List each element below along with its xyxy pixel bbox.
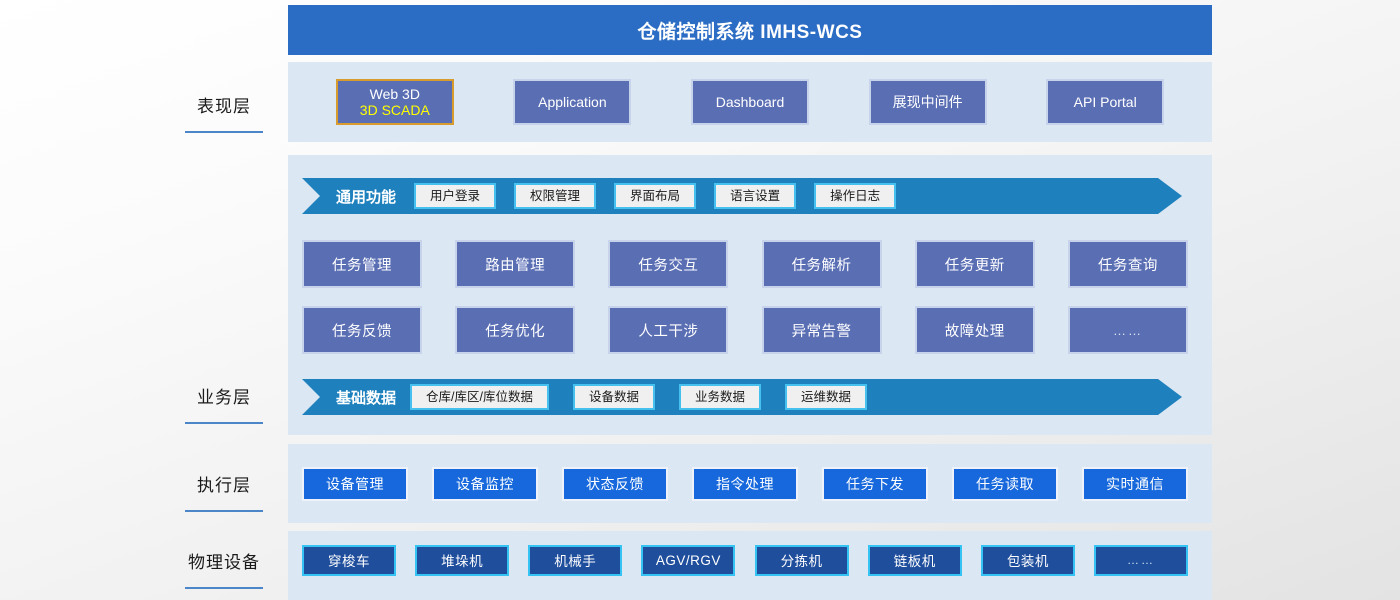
presentation-box-api-portal[interactable]: API Portal: [1046, 79, 1164, 125]
physical-box-sorter-label: 分拣机: [781, 550, 823, 570]
execution-box-command-processing[interactable]: 指令处理: [692, 467, 798, 501]
business-box-task-management[interactable]: 任务管理: [302, 240, 422, 288]
physical-box-robot-arm-label: 机械手: [554, 550, 596, 570]
execution-layer-panel: 设备管理 设备监控 状态反馈 指令处理 任务下发 任务读取 实时通信: [288, 444, 1212, 523]
execution-box-task-dispatch-label: 任务下发: [846, 474, 904, 494]
physical-box-packing-machine[interactable]: 包装机: [981, 545, 1075, 576]
layer-label-execution: 执行层: [160, 471, 288, 512]
physical-box-shuttle-car-label: 穿梭车: [328, 550, 370, 570]
common-functions-chip-group: 用户登录 权限管理 界面布局 语言设置 操作日志: [414, 183, 896, 210]
common-functions-band-title: 通用功能: [336, 186, 396, 207]
execution-box-status-feedback-label: 状态反馈: [586, 474, 644, 494]
presentation-box-display-middleware-label: 展现中间件: [893, 94, 963, 110]
execution-box-task-read-label: 任务读取: [976, 474, 1034, 494]
physical-box-sorter[interactable]: 分拣机: [755, 545, 849, 576]
common-chip-operation-log[interactable]: 操作日志: [814, 183, 896, 210]
presentation-box-row: Web 3D 3D SCADA Application Dashboard 展现…: [288, 62, 1212, 142]
business-box-more-label: ……: [1113, 323, 1143, 338]
basic-chip-equipment-data[interactable]: 设备数据: [573, 384, 655, 411]
execution-box-status-feedback[interactable]: 状态反馈: [562, 467, 668, 501]
layer-label-presentation: 表现层: [160, 92, 288, 133]
business-box-task-update[interactable]: 任务更新: [915, 240, 1035, 288]
business-box-task-optimization[interactable]: 任务优化: [455, 306, 575, 354]
layer-label-execution-text: 执行层: [160, 471, 288, 496]
business-box-task-optimization-label: 任务优化: [485, 320, 545, 341]
physical-box-slat-conveyor-label: 链板机: [894, 550, 936, 570]
execution-box-command-processing-label: 指令处理: [716, 474, 774, 494]
presentation-box-web3d[interactable]: Web 3D 3D SCADA: [336, 79, 454, 125]
layer-label-execution-rule: [185, 510, 263, 512]
business-box-task-interaction[interactable]: 任务交互: [608, 240, 728, 288]
presentation-layer-panel: Web 3D 3D SCADA Application Dashboard 展现…: [288, 62, 1212, 142]
business-box-manual-intervention[interactable]: 人工干涉: [608, 306, 728, 354]
basic-chip-warehouse-area-location-data[interactable]: 仓库/库区/库位数据: [410, 384, 549, 411]
business-box-route-management[interactable]: 路由管理: [455, 240, 575, 288]
layer-label-physical-text: 物理设备: [160, 548, 288, 573]
physical-box-stacker-crane[interactable]: 堆垛机: [415, 545, 509, 576]
layer-label-presentation-rule: [185, 131, 263, 133]
layer-label-business: 业务层: [160, 383, 288, 424]
business-box-task-parsing[interactable]: 任务解析: [762, 240, 882, 288]
common-chip-permission-management[interactable]: 权限管理: [514, 183, 596, 210]
basic-data-band-title: 基础数据: [336, 387, 396, 408]
presentation-box-display-middleware[interactable]: 展现中间件: [869, 79, 987, 125]
common-functions-band: 通用功能 用户登录 权限管理 界面布局 语言设置 操作日志: [302, 178, 1182, 214]
execution-box-realtime-communication[interactable]: 实时通信: [1082, 467, 1188, 501]
execution-box-equipment-monitoring[interactable]: 设备监控: [432, 467, 538, 501]
basic-data-chip-group: 仓库/库区/库位数据 设备数据 业务数据 运维数据: [410, 384, 867, 411]
execution-box-equipment-management[interactable]: 设备管理: [302, 467, 408, 501]
business-box-fault-handling[interactable]: 故障处理: [915, 306, 1035, 354]
basic-chip-business-data[interactable]: 业务数据: [679, 384, 761, 411]
physical-box-shuttle-car[interactable]: 穿梭车: [302, 545, 396, 576]
presentation-box-application-label: Application: [538, 94, 607, 110]
physical-box-more[interactable]: ……: [1094, 545, 1188, 576]
business-box-fault-handling-label: 故障处理: [945, 320, 1005, 341]
physical-box-agv-rgv[interactable]: AGV/RGV: [641, 545, 735, 576]
physical-box-more-label: ……: [1127, 553, 1155, 567]
business-box-manual-intervention-label: 人工干涉: [638, 320, 698, 341]
business-box-task-parsing-label: 任务解析: [792, 254, 852, 275]
presentation-box-api-portal-label: API Portal: [1074, 94, 1137, 110]
layer-label-business-rule: [185, 422, 263, 424]
common-chip-ui-layout[interactable]: 界面布局: [614, 183, 696, 210]
business-box-task-interaction-label: 任务交互: [638, 254, 698, 275]
business-layer-panel: 通用功能 用户登录 权限管理 界面布局 语言设置 操作日志 任务管理 路由管理 …: [288, 155, 1212, 435]
execution-box-row: 设备管理 设备监控 状态反馈 指令处理 任务下发 任务读取 实时通信: [302, 444, 1188, 523]
execution-box-equipment-monitoring-label: 设备监控: [456, 474, 514, 494]
business-box-task-management-label: 任务管理: [332, 254, 392, 275]
layer-label-presentation-text: 表现层: [160, 92, 288, 117]
business-box-exception-alarm-label: 异常告警: [792, 320, 852, 341]
physical-box-packing-machine-label: 包装机: [1007, 550, 1049, 570]
layer-label-physical-rule: [185, 587, 263, 589]
physical-devices-layer-panel: 穿梭车 堆垛机 机械手 AGV/RGV 分拣机 链板机 包装机 ……: [288, 531, 1212, 600]
business-box-exception-alarm[interactable]: 异常告警: [762, 306, 882, 354]
execution-box-task-read[interactable]: 任务读取: [952, 467, 1058, 501]
layer-label-column: 表现层 业务层 执行层 物理设备: [160, 0, 288, 600]
physical-box-robot-arm[interactable]: 机械手: [528, 545, 622, 576]
business-box-task-query[interactable]: 任务查询: [1068, 240, 1188, 288]
execution-box-realtime-communication-label: 实时通信: [1106, 474, 1164, 494]
system-title-bar: 仓储控制系统 IMHS-WCS: [288, 5, 1212, 55]
business-module-row-1: 任务管理 路由管理 任务交互 任务解析 任务更新 任务查询: [302, 240, 1188, 288]
layer-label-physical: 物理设备: [160, 548, 288, 589]
page-title: 仓储控制系统 IMHS-WCS: [638, 17, 863, 44]
presentation-box-dashboard-label: Dashboard: [716, 94, 785, 110]
presentation-box-web3d-line1: Web 3D: [370, 86, 420, 102]
business-box-task-feedback[interactable]: 任务反馈: [302, 306, 422, 354]
physical-box-agv-rgv-label: AGV/RGV: [656, 553, 721, 568]
business-box-task-query-label: 任务查询: [1098, 254, 1158, 275]
basic-data-band: 基础数据 仓库/库区/库位数据 设备数据 业务数据 运维数据: [302, 379, 1182, 415]
presentation-box-dashboard[interactable]: Dashboard: [691, 79, 809, 125]
common-chip-language-settings[interactable]: 语言设置: [714, 183, 796, 210]
common-chip-user-login[interactable]: 用户登录: [414, 183, 496, 210]
physical-box-stacker-crane-label: 堆垛机: [441, 550, 483, 570]
presentation-box-web3d-line2: 3D SCADA: [360, 102, 430, 118]
execution-box-equipment-management-label: 设备管理: [326, 474, 384, 494]
presentation-box-application[interactable]: Application: [513, 79, 631, 125]
business-box-task-update-label: 任务更新: [945, 254, 1005, 275]
business-box-route-management-label: 路由管理: [485, 254, 545, 275]
execution-box-task-dispatch[interactable]: 任务下发: [822, 467, 928, 501]
business-box-more[interactable]: ……: [1068, 306, 1188, 354]
basic-chip-ops-maintenance-data[interactable]: 运维数据: [785, 384, 867, 411]
layer-label-business-text: 业务层: [160, 383, 288, 408]
physical-box-slat-conveyor[interactable]: 链板机: [868, 545, 962, 576]
business-module-row-2: 任务反馈 任务优化 人工干涉 异常告警 故障处理 ……: [302, 306, 1188, 354]
physical-device-row: 穿梭车 堆垛机 机械手 AGV/RGV 分拣机 链板机 包装机 ……: [302, 531, 1188, 589]
business-box-task-feedback-label: 任务反馈: [332, 320, 392, 341]
